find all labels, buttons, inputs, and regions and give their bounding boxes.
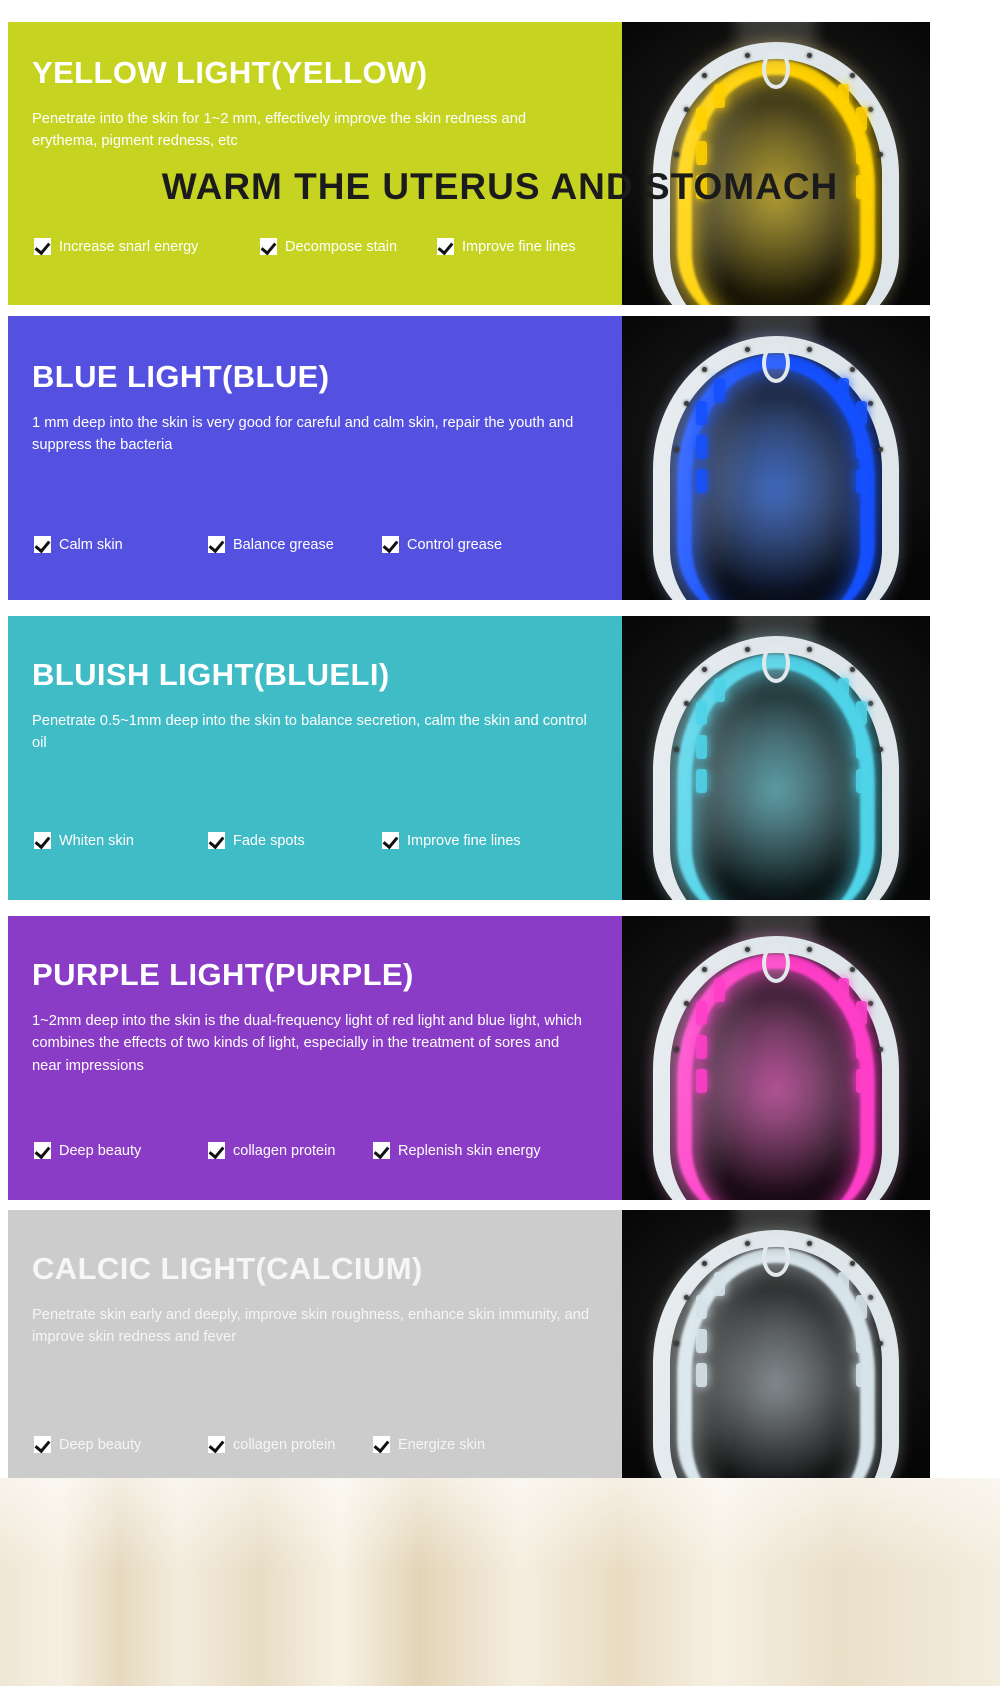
benefit-item: Deep beauty bbox=[34, 1436, 208, 1453]
panel-yellow-light: YELLOW LIGHT(YELLOW) Penetrate into the … bbox=[8, 22, 930, 305]
checkmark-icon bbox=[437, 238, 454, 255]
infographic-page: YELLOW LIGHT(YELLOW) Penetrate into the … bbox=[0, 0, 1000, 1686]
benefit-item: Energize skin bbox=[373, 1436, 485, 1453]
checkmark-icon bbox=[34, 832, 51, 849]
product-photo-purple bbox=[622, 916, 930, 1200]
benefit-item: Whiten skin bbox=[34, 832, 208, 849]
panel-benefits-list: Increase snarl energy Decompose stain Im… bbox=[34, 238, 612, 255]
benefit-item: Fade spots bbox=[208, 832, 382, 849]
benefit-label: Deep beauty bbox=[59, 1437, 141, 1453]
panel-text-column: BLUE LIGHT(BLUE) 1 mm deep into the skin… bbox=[8, 316, 622, 600]
panel-title: CALCIC LIGHT(CALCIUM) bbox=[32, 1252, 600, 1286]
panel-text-column: YELLOW LIGHT(YELLOW) Penetrate into the … bbox=[8, 22, 622, 305]
panel-title: YELLOW LIGHT(YELLOW) bbox=[32, 56, 600, 90]
panel-blue-light: BLUE LIGHT(BLUE) 1 mm deep into the skin… bbox=[8, 316, 930, 600]
benefit-label: Whiten skin bbox=[59, 833, 134, 849]
panel-benefits-list: Deep beauty collagen protein Energize sk… bbox=[34, 1436, 612, 1453]
panel-title: BLUISH LIGHT(BLUELI) bbox=[32, 658, 600, 692]
panel-text-column: PURPLE LIGHT(PURPLE) 1~2mm deep into the… bbox=[8, 916, 622, 1200]
checkmark-icon bbox=[208, 832, 225, 849]
benefit-item: collagen protein bbox=[208, 1436, 373, 1453]
benefit-label: Fade spots bbox=[233, 833, 305, 849]
panel-benefits-list: Deep beauty collagen protein Replenish s… bbox=[34, 1142, 612, 1159]
panel-text-column: BLUISH LIGHT(BLUELI) Penetrate 0.5~1mm d… bbox=[8, 616, 622, 900]
panel-description: Penetrate into the skin for 1~2 mm, effe… bbox=[32, 108, 592, 153]
product-photo-calcium bbox=[622, 1210, 930, 1494]
benefit-item: Replenish skin energy bbox=[373, 1142, 541, 1159]
panel-calcic-light: CALCIC LIGHT(CALCIUM) Penetrate skin ear… bbox=[8, 1210, 930, 1494]
benefit-item: Balance grease bbox=[208, 536, 382, 553]
checkmark-icon bbox=[208, 1142, 225, 1159]
panel-benefits-list: Calm skin Balance grease Control grease bbox=[34, 536, 612, 553]
panel-text-column: CALCIC LIGHT(CALCIUM) Penetrate skin ear… bbox=[8, 1210, 622, 1494]
panel-description: 1 mm deep into the skin is very good for… bbox=[32, 412, 592, 457]
panel-description: Penetrate skin early and deeply, improve… bbox=[32, 1304, 592, 1349]
benefit-label: collagen protein bbox=[233, 1437, 335, 1453]
benefit-label: Deep beauty bbox=[59, 1143, 141, 1159]
benefit-item: Decompose stain bbox=[260, 238, 437, 255]
checkmark-icon bbox=[34, 1436, 51, 1453]
benefit-label: Balance grease bbox=[233, 537, 334, 553]
benefit-label: Energize skin bbox=[398, 1437, 485, 1453]
benefit-label: Control grease bbox=[407, 537, 502, 553]
bottom-section-title: WARM THE UTERUS AND STOMACH bbox=[0, 166, 1000, 208]
checkmark-icon bbox=[208, 1436, 225, 1453]
checkmark-icon bbox=[34, 238, 51, 255]
panel-title: BLUE LIGHT(BLUE) bbox=[32, 360, 600, 394]
panel-purple-light: PURPLE LIGHT(PURPLE) 1~2mm deep into the… bbox=[8, 916, 930, 1200]
product-photo-bluish bbox=[622, 616, 930, 900]
panel-description: Penetrate 0.5~1mm deep into the skin to … bbox=[32, 710, 592, 755]
checkmark-icon bbox=[34, 536, 51, 553]
checkmark-icon bbox=[208, 536, 225, 553]
panel-description: 1~2mm deep into the skin is the dual-fre… bbox=[32, 1010, 592, 1077]
product-photo-yellow bbox=[622, 22, 930, 305]
top-white-strip bbox=[0, 0, 1000, 22]
benefit-item: Improve fine lines bbox=[382, 832, 521, 849]
benefit-item: Improve fine lines bbox=[437, 238, 576, 255]
checkmark-icon bbox=[260, 238, 277, 255]
panel-bluish-light: BLUISH LIGHT(BLUELI) Penetrate 0.5~1mm d… bbox=[8, 616, 930, 900]
checkmark-icon bbox=[382, 832, 399, 849]
benefit-item: collagen protein bbox=[208, 1142, 373, 1159]
checkmark-icon bbox=[382, 536, 399, 553]
benefit-label: Decompose stain bbox=[285, 239, 397, 255]
benefit-item: Calm skin bbox=[34, 536, 208, 553]
benefit-label: Calm skin bbox=[59, 537, 123, 553]
panel-title: PURPLE LIGHT(PURPLE) bbox=[32, 958, 600, 992]
benefit-item: Increase snarl energy bbox=[34, 238, 260, 255]
benefit-label: Increase snarl energy bbox=[59, 239, 198, 255]
benefit-label: Improve fine lines bbox=[462, 239, 576, 255]
panel-benefits-list: Whiten skin Fade spots Improve fine line… bbox=[34, 832, 612, 849]
benefit-label: Replenish skin energy bbox=[398, 1143, 541, 1159]
benefit-label: collagen protein bbox=[233, 1143, 335, 1159]
product-photo-blue bbox=[622, 316, 930, 600]
benefit-item: Deep beauty bbox=[34, 1142, 208, 1159]
checkmark-icon bbox=[34, 1142, 51, 1159]
checkmark-icon bbox=[373, 1436, 390, 1453]
benefit-label: Improve fine lines bbox=[407, 833, 521, 849]
checkmark-icon bbox=[373, 1142, 390, 1159]
benefit-item: Control grease bbox=[382, 536, 502, 553]
bottom-warm-section bbox=[0, 1478, 1000, 1686]
